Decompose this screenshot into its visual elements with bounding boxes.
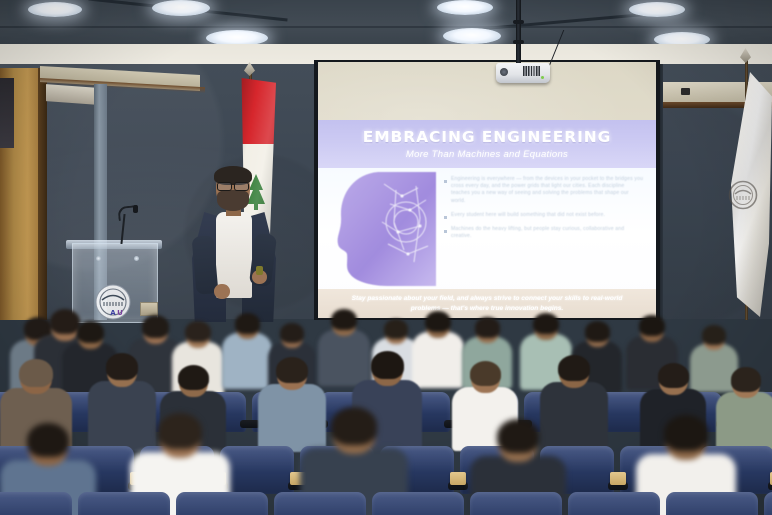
eyeglasses-left-icon — [217, 182, 232, 191]
slide-bullet-list: Engineering is everywhere — from the dev… — [444, 176, 644, 247]
presentation-clicker-icon — [256, 266, 263, 275]
presenter-beard — [217, 190, 249, 211]
lectern-bolt-2 — [134, 256, 139, 261]
microphone-icon — [133, 205, 138, 213]
projector-vent — [523, 66, 540, 76]
seat-highlight — [764, 492, 772, 515]
audience-member-hair — [639, 315, 665, 336]
audience-member-hair — [77, 321, 104, 343]
wall-speaker-grille — [46, 84, 98, 105]
wood-panel-edge — [38, 68, 47, 320]
slide-title: EMBRACING ENGINEERING — [318, 128, 656, 146]
ceiling-light-5 — [443, 28, 501, 44]
audience-member-hair — [585, 321, 610, 342]
audience-member-hair — [235, 313, 260, 334]
eyeglasses-right-icon — [234, 182, 249, 191]
audience-member-hair — [27, 423, 69, 457]
audience-member-hair — [558, 355, 590, 381]
audience-member-hair — [497, 419, 539, 453]
lectern-bolt-1 — [96, 256, 101, 261]
audience-member-hair — [702, 325, 726, 345]
seat-highlight — [176, 492, 268, 515]
audience-member-hair — [142, 315, 169, 338]
audience-member-hair — [158, 413, 202, 449]
seat-highlight — [0, 492, 72, 515]
seat-highlight — [372, 492, 464, 515]
slide-bullet: Engineering is everywhere — from the dev… — [444, 176, 644, 205]
audience-member-hair — [19, 359, 53, 387]
audience-member-hair — [425, 311, 451, 332]
wall-sensor-icon — [681, 88, 690, 95]
audience-member-hair — [533, 313, 559, 334]
audience-member-hair — [185, 321, 211, 342]
slide-bullet: Every student here will build something … — [444, 212, 644, 219]
audience-member-hair — [664, 415, 708, 451]
seat-writing-tablet — [610, 472, 626, 485]
ceiling-light-2 — [152, 0, 210, 16]
wood-panel-slot — [0, 78, 14, 148]
seat-armrest — [240, 420, 260, 428]
auditorium-photo: EMBRACING ENGINEERING More Than Machines… — [0, 0, 772, 515]
audience-member-hair — [280, 323, 304, 343]
audience-member-hair — [106, 353, 138, 380]
audience-member-hair — [331, 309, 357, 330]
audience-member-hair — [470, 361, 501, 386]
seat-highlight — [220, 446, 294, 494]
ceiling-light-6 — [629, 2, 685, 17]
audience-member-hair — [276, 357, 308, 383]
projector-status-led — [541, 76, 544, 79]
audience-member-hair — [731, 367, 761, 392]
audience-area — [0, 296, 772, 515]
bullet-marker-icon — [444, 180, 447, 183]
audience-member-hair — [371, 351, 404, 379]
seat-highlight — [666, 492, 758, 515]
audience-member-hair — [658, 363, 689, 388]
audience-member-hair — [475, 317, 500, 338]
ceiling-light-1 — [28, 2, 82, 17]
audience-member-hair — [178, 365, 209, 390]
bullet-marker-icon — [444, 230, 447, 233]
seat-writing-tablet — [450, 472, 466, 485]
audience-member-hair — [331, 407, 377, 445]
slide-bullet: Machines do the heavy lifting, but peopl… — [444, 226, 644, 240]
slide-bullet-text: Engineering is everywhere — from the dev… — [451, 176, 644, 205]
slide-bullet-text: Every student here will build something … — [451, 212, 605, 219]
seat-highlight — [568, 492, 660, 515]
projector-lens-icon — [500, 68, 508, 76]
presentation-slide: EMBRACING ENGINEERING More Than Machines… — [318, 120, 656, 298]
slide-bullet-text: Machines do the heavy lifting, but peopl… — [451, 226, 644, 240]
seat-highlight — [78, 492, 170, 515]
ceiling-light-4 — [437, 0, 493, 15]
bullet-marker-icon — [444, 216, 447, 219]
seat-highlight — [470, 492, 562, 515]
projector-pole-ring-1 — [513, 20, 524, 24]
slide-subtitle: More Than Machines and Equations — [318, 149, 656, 160]
ai-head-icon — [332, 170, 436, 288]
ceiling-seam-1 — [0, 26, 772, 28]
audience-member-hair — [384, 319, 408, 339]
seat-highlight — [274, 492, 366, 515]
